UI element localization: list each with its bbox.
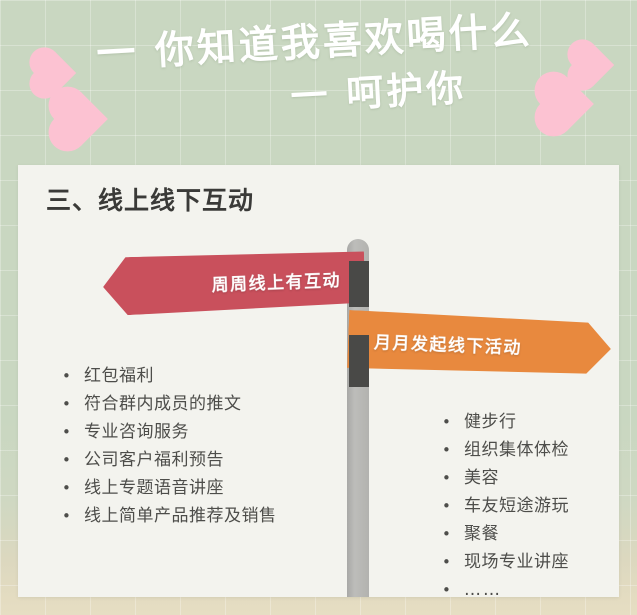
bullet-icon: •: [442, 464, 464, 492]
bullet-icon: •: [442, 576, 464, 597]
list-item-label: 线上简单产品推荐及销售: [84, 502, 277, 530]
list-item-label: 公司客户福利预告: [84, 446, 224, 474]
list-item-label: 线上专题语音讲座: [84, 474, 224, 502]
offline-activities-list: •健步行 •组织集体体检 •美容 •车友短途游玩 •聚餐 •现场专业讲座 •……: [442, 408, 569, 597]
list-item: •现场专业讲座: [442, 548, 569, 576]
list-item-label: 美容: [464, 464, 499, 492]
list-item: •美容: [442, 464, 569, 492]
heart-icon: [54, 92, 108, 146]
list-item-label: ……: [464, 576, 502, 597]
bullet-icon: •: [442, 408, 464, 436]
heart-icon: [572, 44, 614, 86]
list-item-label: 聚餐: [464, 520, 499, 548]
list-item: •线上简单产品推荐及销售: [62, 502, 277, 530]
bullet-icon: •: [62, 474, 84, 502]
list-item: •聚餐: [442, 520, 569, 548]
list-item-label: 组织集体体检: [464, 436, 569, 464]
bullet-icon: •: [442, 520, 464, 548]
content-card: 三、线上线下互动 周周线上有互动 月月发起线下活动 •红包福利 •符合群内成员的…: [18, 165, 619, 597]
right-arrow-label: 月月发起线下活动: [374, 327, 523, 358]
list-item-label: 专业咨询服务: [84, 418, 189, 446]
list-item-label: 红包福利: [84, 362, 154, 390]
bullet-icon: •: [62, 362, 84, 390]
list-item-label: 现场专业讲座: [464, 548, 569, 576]
bullet-icon: •: [442, 548, 464, 576]
list-item: •健步行: [442, 408, 569, 436]
list-item-label: 健步行: [464, 408, 517, 436]
slide-root: 一 你知道我喜欢喝什么 一 呵护你 三、线上线下互动 周周线上有互动 月月发起线…: [0, 0, 637, 615]
list-item-label: 车友短途游玩: [464, 492, 569, 520]
card-title: 三、线上线下互动: [46, 181, 254, 217]
online-activities-list: •红包福利 •符合群内成员的推文 •专业咨询服务 •公司客户福利预告 •线上专题…: [62, 362, 277, 530]
signpost-collar-top: [349, 261, 369, 307]
left-arrow-label: 周周线上有互动: [211, 265, 341, 295]
right-arrow-sign: 月月发起线下活动: [347, 310, 612, 378]
bullet-icon: •: [62, 502, 84, 530]
list-item-label: 符合群内成员的推文: [84, 390, 242, 418]
left-arrow-sign: 周周线上有互动: [102, 248, 366, 316]
bullet-icon: •: [62, 418, 84, 446]
list-item: •线上专题语音讲座: [62, 474, 277, 502]
bullet-icon: •: [62, 390, 84, 418]
bullet-icon: •: [62, 446, 84, 474]
list-item: •符合群内成员的推文: [62, 390, 277, 418]
list-item: •红包福利: [62, 362, 277, 390]
list-item: •公司客户福利预告: [62, 446, 277, 474]
bullet-icon: •: [442, 436, 464, 464]
bullet-icon: •: [442, 492, 464, 520]
list-item: •组织集体体检: [442, 436, 569, 464]
signpost-collar-bottom: [349, 335, 369, 387]
list-item: •车友短途游玩: [442, 492, 569, 520]
header-line-1: 一 你知道我喜欢喝什么: [0, 0, 637, 85]
list-item: •……: [442, 576, 569, 597]
list-item: •专业咨询服务: [62, 418, 277, 446]
